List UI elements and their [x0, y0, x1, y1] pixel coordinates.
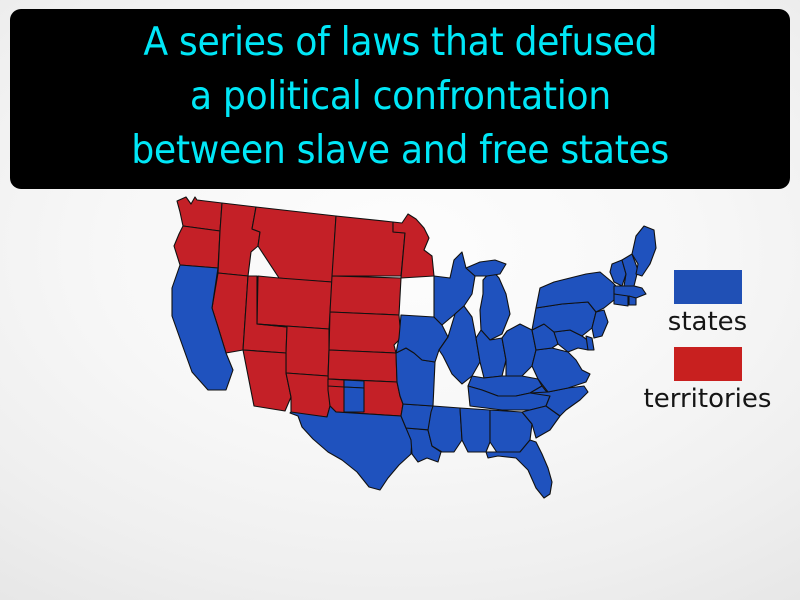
state-michigan-upper [466, 260, 506, 276]
state-montana [252, 207, 336, 282]
definition-banner: A series of laws that defused a politica… [10, 9, 790, 189]
definition-line-2: a political confrontation [190, 70, 611, 124]
legend-entry-states: states [620, 270, 795, 338]
map-legend: states territories [620, 270, 795, 430]
legend-label-states: states [668, 306, 747, 338]
state-panhandle-sliver [328, 379, 344, 387]
state-mississippi [428, 406, 462, 452]
state-oregon [174, 226, 220, 268]
us-map-svg [150, 190, 660, 500]
state-michigan [480, 270, 510, 340]
state-alabama [460, 408, 490, 452]
territories-swatch-icon [674, 347, 742, 381]
state-south-dakota [330, 276, 401, 315]
state-arizona [243, 350, 291, 411]
states-swatch-icon [674, 270, 742, 304]
definition-line-3: between slave and free states [131, 124, 669, 178]
state-wyoming [257, 276, 332, 329]
state-texas-panhandle [344, 387, 364, 412]
legend-label-territories: territories [644, 383, 772, 415]
state-new-mexico [286, 373, 330, 417]
state-delaware [586, 336, 594, 350]
state-nebraska [329, 312, 401, 353]
state-kansas [328, 350, 397, 382]
state-ohio [502, 324, 536, 376]
united-states-map [150, 190, 660, 500]
definition-line-1: A series of laws that defused [143, 16, 657, 70]
state-idaho [218, 203, 260, 276]
legend-entry-territories: territories [620, 347, 795, 415]
slide-canvas: A series of laws that defused a politica… [0, 0, 800, 600]
